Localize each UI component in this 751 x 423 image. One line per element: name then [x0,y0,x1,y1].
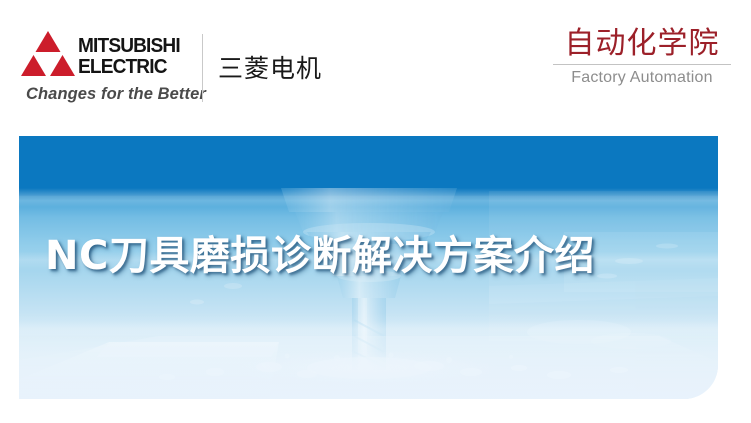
fa-subtitle-english: Factory Automation [551,67,733,88]
brand-tagline: Changes for the Better [26,84,206,103]
wordmark-line-1: MITSUBISHI [78,36,197,57]
company-name-chinese: 三菱电机 [218,55,322,83]
mitsubishi-brand-lockup: MITSUBISHI ELECTRIC Changes for the Bett… [16,27,206,107]
fa-divider-rule [553,64,731,65]
mitsubishi-wordmark: MITSUBISHI ELECTRIC [78,36,197,77]
wordmark-line-2: ELECTRIC [78,57,197,78]
hero-banner: NC刀具磨损诊断解决方案介绍 [19,136,718,399]
header-divider [202,34,203,102]
fa-title-chinese: 自动化学院 [551,27,733,61]
factory-automation-logo: 自动化学院 Factory Automation [551,27,733,88]
hero-title: NC刀具磨损诊断解决方案介绍 [45,232,595,280]
page-header: MITSUBISHI ELECTRIC Changes for the Bett… [0,0,751,130]
mitsubishi-three-diamonds-icon [16,30,80,80]
